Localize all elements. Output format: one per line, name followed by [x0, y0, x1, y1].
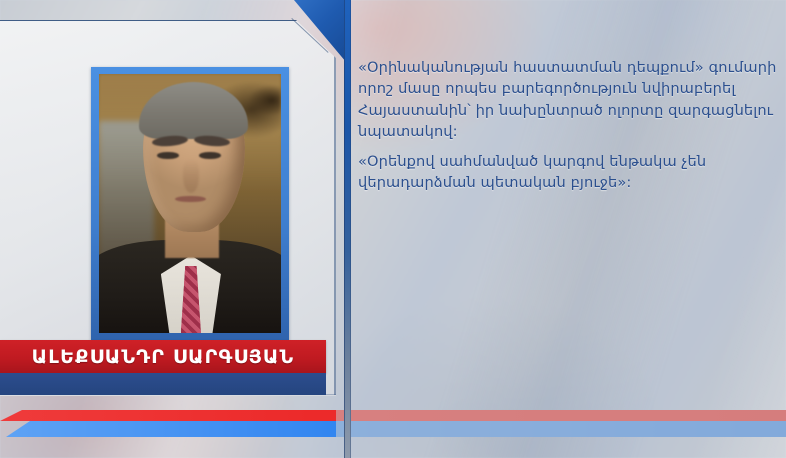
portrait-nose	[183, 159, 199, 193]
name-banner-underbar	[0, 373, 326, 395]
quote-paragraph-2: «Օրենքով սահմանված կարգով ենթակա չեն վեր…	[358, 151, 758, 194]
portrait-frame	[91, 67, 289, 342]
broadcast-graphic-screen: ԱԼԵՔՍԱՆԴՐ ՍԱՐԳՍՅԱՆ «Օրինականության հաստա…	[0, 0, 786, 458]
quote-panel-accent-bar	[344, 0, 351, 458]
quote-panel: «Օրինականության հաստատման դեպքում» գումա…	[344, 0, 786, 458]
quote-paragraph-1: «Օրինականության հաստատման դեպքում» գումա…	[358, 57, 786, 143]
person-name-label: ԱԼԵՔՍԱՆԴՐ ՍԱՐԳՍՅԱՆ	[32, 346, 295, 368]
portrait-photo	[99, 74, 281, 333]
name-banner: ԱԼԵՔՍԱՆԴՐ ՍԱՐԳՍՅԱՆ	[0, 340, 326, 373]
